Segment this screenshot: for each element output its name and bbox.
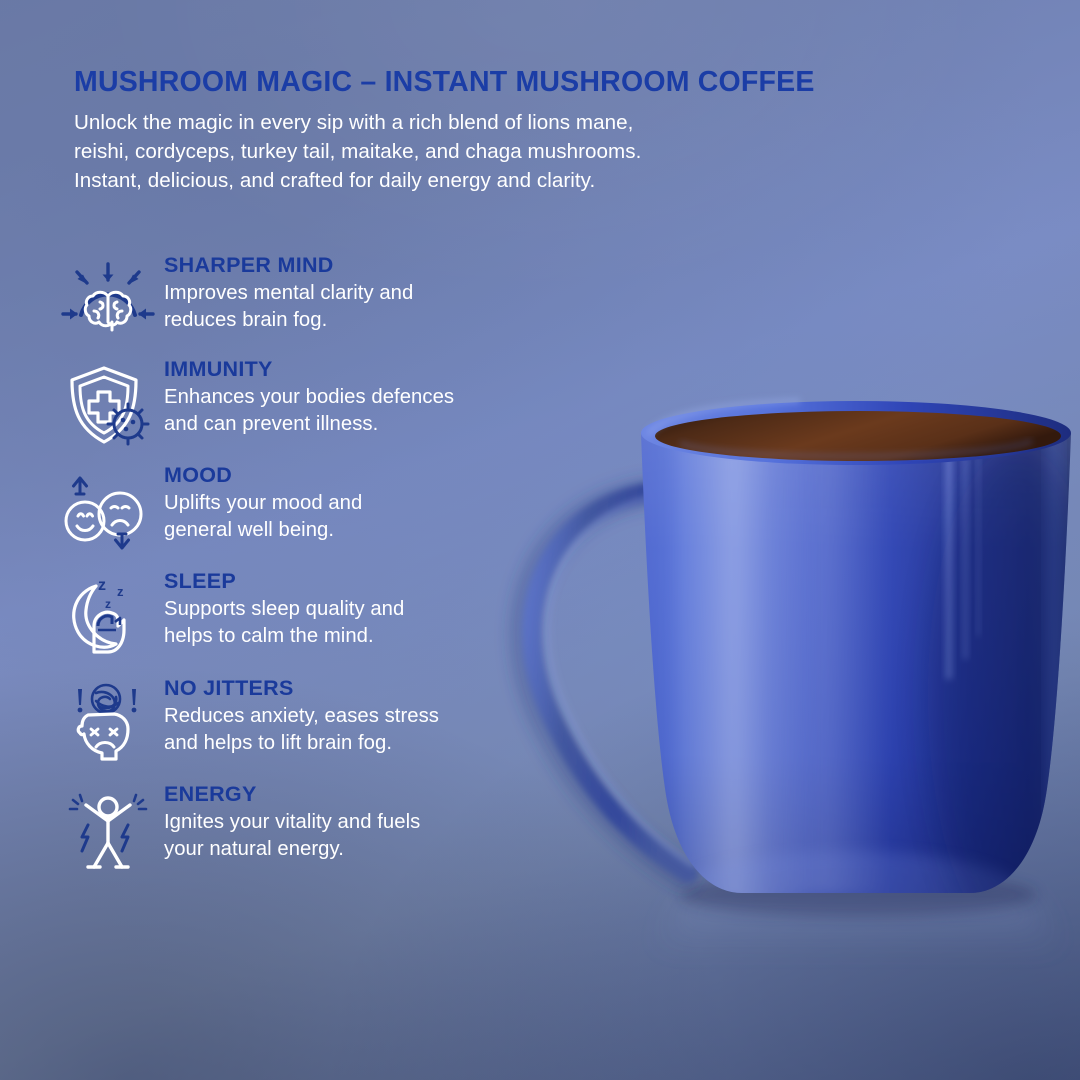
brain-focus-icon	[52, 252, 164, 340]
benefit-item-energy: ENERGY Ignites your vitality and fuels y…	[52, 781, 612, 873]
benefit-item-no-jitters: NO JITTERS Reduces anxiety, eases stress…	[52, 675, 612, 767]
benefit-item-immunity: IMMUNITY Enhances your bodies defences a…	[52, 356, 612, 450]
benefit-title: MOOD	[164, 463, 612, 488]
benefit-description: Ignites your vitality and fuels your nat…	[164, 809, 612, 863]
benefit-title: SHARPER MIND	[164, 253, 612, 278]
benefit-description: Uplifts your mood and general well being…	[164, 490, 612, 544]
benefit-description: Improves mental clarity and reduces brai…	[164, 280, 612, 334]
shield-virus-icon	[52, 356, 164, 450]
benefits-list: SHARPER MIND Improves mental clarity and…	[52, 252, 612, 890]
svg-text:z: z	[105, 597, 111, 611]
mug-reflection	[646, 898, 1070, 955]
mug-rim-and-interior	[641, 401, 1071, 465]
benefit-description: Reduces anxiety, eases stress and helps …	[164, 703, 612, 757]
benefit-item-mood: MOOD Uplifts your mood and general well …	[52, 462, 612, 554]
benefit-title: NO JITTERS	[164, 676, 612, 701]
mug-body	[641, 425, 1080, 945]
benefit-title: IMMUNITY	[164, 357, 612, 382]
mood-faces-icon	[52, 462, 164, 554]
benefit-title: ENERGY	[164, 782, 612, 807]
benefit-description: Enhances your bodies defences and can pr…	[164, 384, 612, 438]
svg-text:z: z	[98, 577, 106, 594]
benefit-description: Supports sleep quality and helps to calm…	[164, 596, 612, 650]
benefit-item-sharper-mind: SHARPER MIND Improves mental clarity and…	[52, 252, 612, 344]
header-block: MUSHROOM MAGIC – INSTANT MUSHROOM COFFEE…	[74, 66, 1024, 196]
page-title: MUSHROOM MAGIC – INSTANT MUSHROOM COFFEE	[74, 66, 1024, 99]
page-subtitle: Unlock the magic in every sip with a ric…	[74, 108, 1024, 196]
infographic-canvas: MUSHROOM MAGIC – INSTANT MUSHROOM COFFEE…	[0, 0, 1080, 1080]
moon-sleep-icon: z z z	[52, 568, 164, 658]
benefit-item-sleep: z z z SLEEP Supports sleep quali	[52, 568, 612, 660]
benefit-title: SLEEP	[164, 569, 612, 594]
stressed-head-icon	[52, 675, 164, 765]
svg-text:z: z	[117, 584, 124, 599]
mug-interior	[655, 411, 1061, 461]
energy-person-icon	[52, 781, 164, 873]
